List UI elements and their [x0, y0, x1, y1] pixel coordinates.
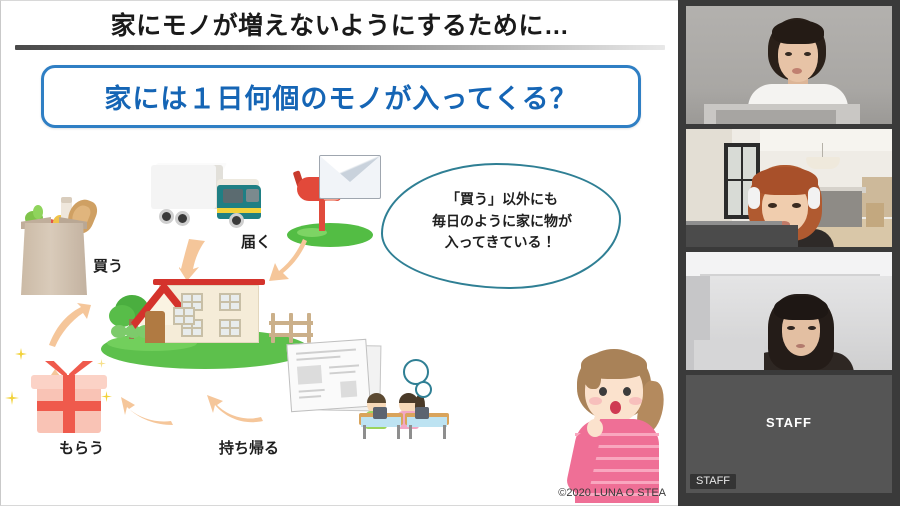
slide-title: 家にモノが増えないようにするために…: [1, 5, 678, 43]
participant-video-2: [686, 129, 892, 247]
participant-display-name: STAFF: [766, 415, 812, 430]
fence-icon: [269, 313, 313, 343]
label-receive: もらう: [59, 437, 104, 458]
label-bring-home: 持ち帰る: [219, 437, 279, 458]
grocery-bag-icon: [15, 195, 93, 295]
participant-tile-4[interactable]: STAFF STAFF: [686, 375, 892, 493]
slide-illustration: 買う 届く: [1, 133, 678, 506]
house-illustration: [101, 263, 311, 373]
question-text: 家には１日何個のモノが入ってくる？: [104, 77, 577, 116]
label-deliver: 届く: [241, 231, 271, 252]
arrow-up-left-icon: [121, 387, 173, 425]
title-divider: [15, 45, 665, 50]
shared-slide: 家にモノが増えないようにするために… 家には１日何個のモノが入ってくる？ 買う: [0, 0, 678, 506]
participant-tile-3[interactable]: [686, 252, 892, 370]
gift-box-icon: [31, 361, 107, 435]
sparkle-4-icon: [97, 355, 106, 364]
sparkle-3-icon: [101, 389, 112, 400]
question-box: 家には１日何個のモノが入ってくる？: [41, 65, 641, 128]
thought-bubble: 「買う」以外にも毎日のように家に物が入ってきている ！: [381, 163, 621, 303]
participant-name-badge: STAFF: [690, 474, 736, 489]
delivery-truck-icon: [149, 163, 269, 241]
thought-bubble-text: 「買う」以外にも毎日のように家に物が入ってきている ！: [407, 189, 597, 254]
copyright-text: ©2020 LUNA O STEA: [558, 487, 666, 499]
meeting-screen: 家にモノが増えないようにするために… 家には１日何個のモノが入ってくる？ 買う: [0, 0, 900, 506]
sparkle-2-icon: [5, 391, 19, 405]
arrow-up-right-icon: [47, 303, 91, 347]
participant-video-panel: STAFF STAFF: [678, 0, 900, 506]
sparkle-icon: [15, 347, 27, 359]
participant-tile-2[interactable]: [686, 129, 892, 247]
arrow-up-left-2-icon: [207, 387, 263, 425]
participant-tile-1[interactable]: [686, 6, 892, 124]
participant-video-3: [686, 252, 892, 370]
participant-video-1: [686, 6, 892, 124]
thinking-woman-illustration: [561, 345, 671, 503]
envelope-icon: [319, 155, 381, 199]
